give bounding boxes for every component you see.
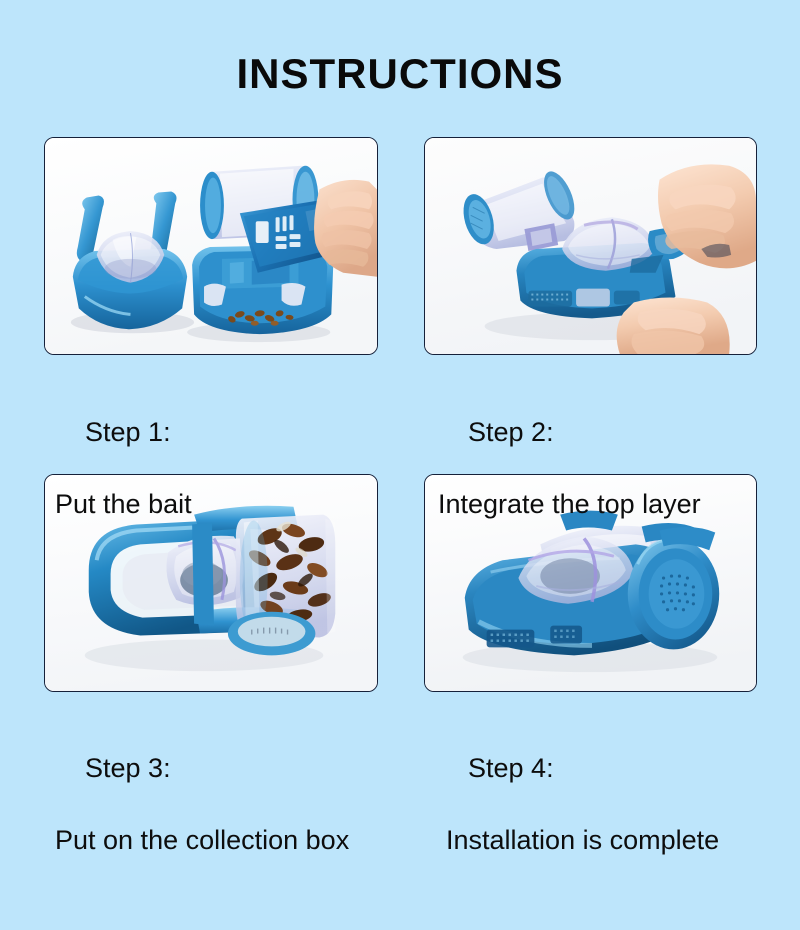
- photo-put-the-bait: [45, 138, 377, 354]
- step-4-caption: Step 4: Installation is complete: [438, 714, 719, 930]
- step-2-text: Integrate the top layer: [438, 486, 701, 522]
- step-4-text: Installation is complete: [438, 822, 719, 858]
- instructions-page: INSTRUCTIONS: [0, 0, 800, 800]
- hand-lower: [617, 298, 730, 354]
- step-3-caption: Step 3: Put on the collection box: [55, 714, 349, 930]
- step-2-photo-panel: [424, 137, 757, 355]
- page-title: INSTRUCTIONS: [0, 50, 800, 98]
- step-1-photo-panel: [44, 137, 378, 355]
- step-1-label: Step 1:: [85, 417, 171, 447]
- step-1-caption: Step 1: Put the bait: [55, 378, 192, 594]
- step-2-caption: Step 2: Integrate the top layer: [438, 378, 701, 594]
- photo-integrate-the-top-layer: [425, 138, 756, 354]
- step-4-label: Step 4:: [468, 753, 554, 783]
- step-3-label: Step 3:: [85, 753, 171, 783]
- step-3-text: Put on the collection box: [55, 822, 349, 858]
- step-1-text: Put the bait: [55, 486, 192, 522]
- step-2-label: Step 2:: [468, 417, 554, 447]
- collection-box-with-insects: [228, 515, 335, 656]
